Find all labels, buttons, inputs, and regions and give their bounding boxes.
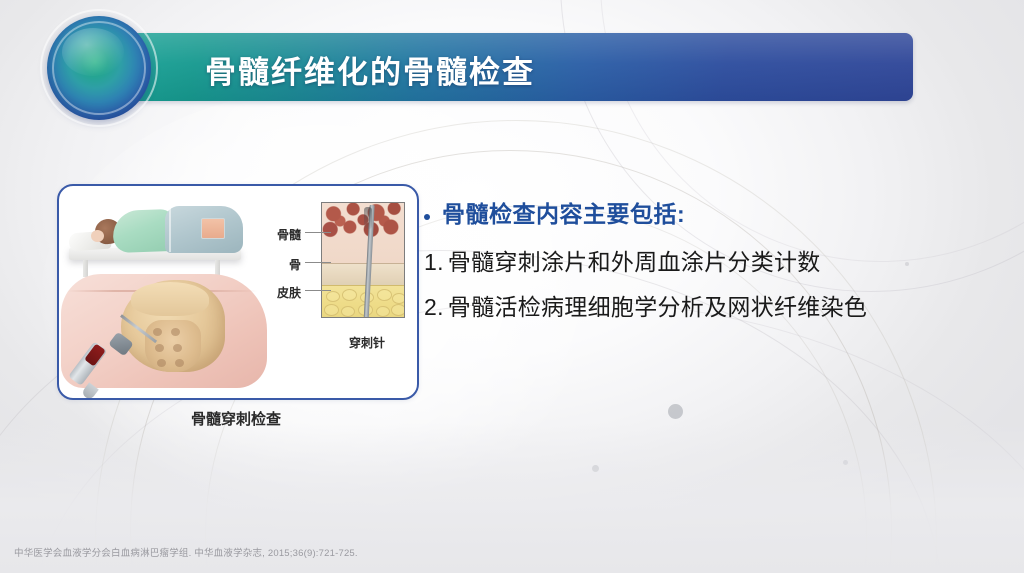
sphere-logo-inner-ring-icon xyxy=(52,21,146,115)
bone-marrow-layer xyxy=(322,203,404,263)
list-item-text: 骨髓穿刺涂片和外周血涂片分类计数 xyxy=(448,246,821,279)
figure-panel: 骨髓 骨 皮肤 穿刺针 xyxy=(57,184,419,400)
sacral-foramen xyxy=(153,328,162,336)
list-item-text: 骨髓活检病理细胞学分析及网状纤维染色 xyxy=(448,291,867,324)
bone-layer xyxy=(322,263,404,286)
sacral-foramen xyxy=(175,359,184,367)
sacral-foramen xyxy=(173,344,182,352)
fat-cell xyxy=(342,289,357,301)
content-block: 骨髓检查内容主要包括: 1. 骨髓穿刺涂片和外周血涂片分类计数 2. 骨髓活检病… xyxy=(424,200,1010,337)
leader-line xyxy=(305,232,331,233)
background-dot xyxy=(668,404,683,419)
fat-cell xyxy=(392,293,405,304)
list-item-number: 1. xyxy=(424,246,444,279)
biopsy-needle-tip xyxy=(364,207,372,229)
list-item: 2. 骨髓活检病理细胞学分析及网状纤维染色 xyxy=(424,291,1010,324)
citation-footer: 中华医学会血液学分会白血病淋巴瘤学组. 中华血液学杂志, 2015;36(9):… xyxy=(14,545,358,559)
list-item: 1. 骨髓穿刺涂片和外周血涂片分类计数 xyxy=(424,246,1010,279)
sacral-foramen xyxy=(171,328,180,336)
label-bone: 骨 xyxy=(257,256,301,273)
leader-line xyxy=(305,290,331,291)
label-skin: 皮肤 xyxy=(257,284,301,301)
drape-fold xyxy=(169,208,171,252)
background-dot xyxy=(843,460,848,465)
label-puncture-needle: 穿刺针 xyxy=(327,334,407,351)
sacral-foramen xyxy=(155,344,164,352)
leader-line xyxy=(305,262,331,263)
fat-cell xyxy=(324,304,339,316)
content-heading: 骨髓检查内容主要包括: xyxy=(442,200,685,230)
slide-title: 骨髓纤维化的骨髓检查 xyxy=(205,47,905,92)
figure-caption: 骨髓穿刺检查 xyxy=(57,408,415,429)
fat-cell xyxy=(326,291,340,302)
puncture-site-window xyxy=(201,218,225,239)
fat-cell xyxy=(391,304,405,316)
patient-face xyxy=(91,230,104,242)
bullet-dot-icon xyxy=(424,214,430,220)
iliac-crest xyxy=(131,282,209,316)
fat-cell xyxy=(341,306,355,317)
label-bone-marrow: 骨髓 xyxy=(257,226,301,243)
tissue-cross-section-inset xyxy=(321,202,405,318)
bullet-heading-row: 骨髓检查内容主要包括: xyxy=(424,200,1010,230)
slide-canvas: 骨髓纤维化的骨髓检查 xyxy=(0,0,1024,573)
fat-cell xyxy=(376,306,390,317)
pelvis-illustration xyxy=(59,268,274,396)
list-item-number: 2. xyxy=(424,291,444,324)
fat-cell xyxy=(377,289,392,301)
sacral-foramen xyxy=(157,359,166,367)
background-dot xyxy=(592,465,599,472)
